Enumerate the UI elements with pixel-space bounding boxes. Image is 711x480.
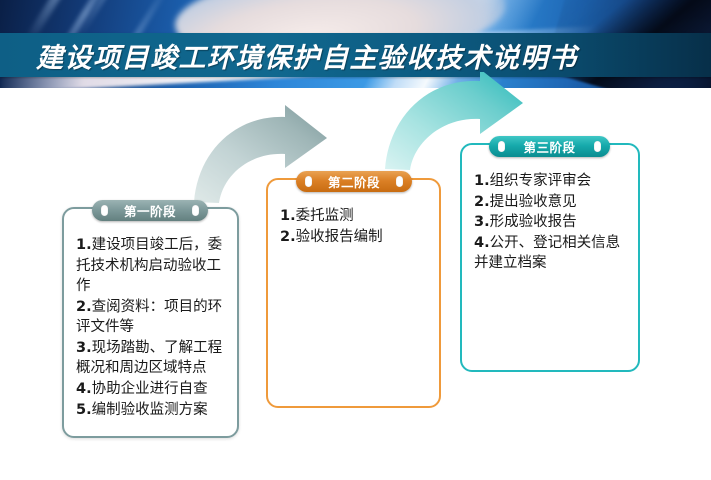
stage-1-content: 1.建设项目竣工后，委托技术机构启动验收工作 2.查阅资料：项目的环评文件等 3… <box>76 235 227 420</box>
list-item-text: 编制验收监测方案 <box>92 402 208 418</box>
pill-knob-left-icon <box>498 141 505 152</box>
list-item-number: 3. <box>474 214 490 230</box>
list-item-text: 委托监测 <box>296 208 354 224</box>
stage-2-title-label: 第二阶段 <box>328 172 380 191</box>
page-title: 建设项目竣工环境保护自主验收技术说明书 <box>36 36 578 75</box>
list-item-text: 协助企业进行自查 <box>92 381 208 397</box>
slide-canvas: 建设项目竣工环境保护自主验收技术说明书 1.建设项目竣工后 <box>0 0 711 480</box>
list-item: 2.查阅资料：项目的环评文件等 <box>76 297 227 338</box>
list-item-text: 形成验收报告 <box>490 214 577 230</box>
list-item: 1.建设项目竣工后，委托技术机构启动验收工作 <box>76 235 227 297</box>
list-item-text: 组织专家评审会 <box>490 173 592 189</box>
list-item-text: 查阅资料：项目的环评文件等 <box>76 299 222 336</box>
list-item: 2.提出验收意见 <box>474 192 628 213</box>
list-item-number: 1. <box>280 208 296 224</box>
list-item-number: 3. <box>76 340 92 356</box>
list-item: 4.协助企业进行自查 <box>76 379 227 400</box>
list-item-text: 验收报告编制 <box>296 229 383 245</box>
list-item-number: 5. <box>76 402 92 418</box>
pill-knob-right-icon <box>396 176 403 187</box>
list-item-text: 建设项目竣工后，委托技术机构启动验收工作 <box>76 237 222 294</box>
list-item-text: 提出验收意见 <box>490 194 577 210</box>
list-item-number: 2. <box>280 229 296 245</box>
list-item: 2.验收报告编制 <box>280 227 429 248</box>
list-item-number: 2. <box>474 194 490 210</box>
stage-2-box[interactable]: 1.委托监测 2.验收报告编制 <box>266 178 441 408</box>
list-item: 1.委托监测 <box>280 206 429 227</box>
stage-3-title-pill[interactable]: 第三阶段 <box>489 136 610 157</box>
list-item-number: 1. <box>474 173 490 189</box>
list-item: 5.编制验收监测方案 <box>76 400 227 421</box>
list-item: 1.组织专家评审会 <box>474 171 628 192</box>
pill-knob-right-icon <box>192 205 199 216</box>
list-item: 3.形成验收报告 <box>474 212 628 233</box>
stage-1-box[interactable]: 1.建设项目竣工后，委托技术机构启动验收工作 2.查阅资料：项目的环评文件等 3… <box>62 207 239 438</box>
title-banner: 建设项目竣工环境保护自主验收技术说明书 <box>0 33 711 77</box>
pill-knob-right-icon <box>594 141 601 152</box>
list-item: 3.现场踏勘、了解工程概况和周边区域特点 <box>76 338 227 379</box>
list-item-number: 4. <box>474 235 490 251</box>
list-item-text: 公开、登记相关信息并建立档案 <box>474 235 620 272</box>
stage-3-content: 1.组织专家评审会 2.提出验收意见 3.形成验收报告 4.公开、登记相关信息并… <box>474 171 628 274</box>
stage-3-box[interactable]: 1.组织专家评审会 2.提出验收意见 3.形成验收报告 4.公开、登记相关信息并… <box>460 143 640 372</box>
list-item-number: 2. <box>76 299 92 315</box>
list-item-number: 1. <box>76 237 92 253</box>
list-item-number: 4. <box>76 381 92 397</box>
stage-3-title-label: 第三阶段 <box>523 137 575 156</box>
list-item-text: 现场踏勘、了解工程概况和周边区域特点 <box>76 340 222 377</box>
stage-1-title-pill[interactable]: 第一阶段 <box>92 200 208 221</box>
stage-1-title-label: 第一阶段 <box>124 201 176 220</box>
stage-2-title-pill[interactable]: 第二阶段 <box>296 171 412 192</box>
list-item: 4.公开、登记相关信息并建立档案 <box>474 233 628 274</box>
pill-knob-left-icon <box>305 176 312 187</box>
pill-knob-left-icon <box>101 205 108 216</box>
stage-2-content: 1.委托监测 2.验收报告编制 <box>280 206 429 247</box>
